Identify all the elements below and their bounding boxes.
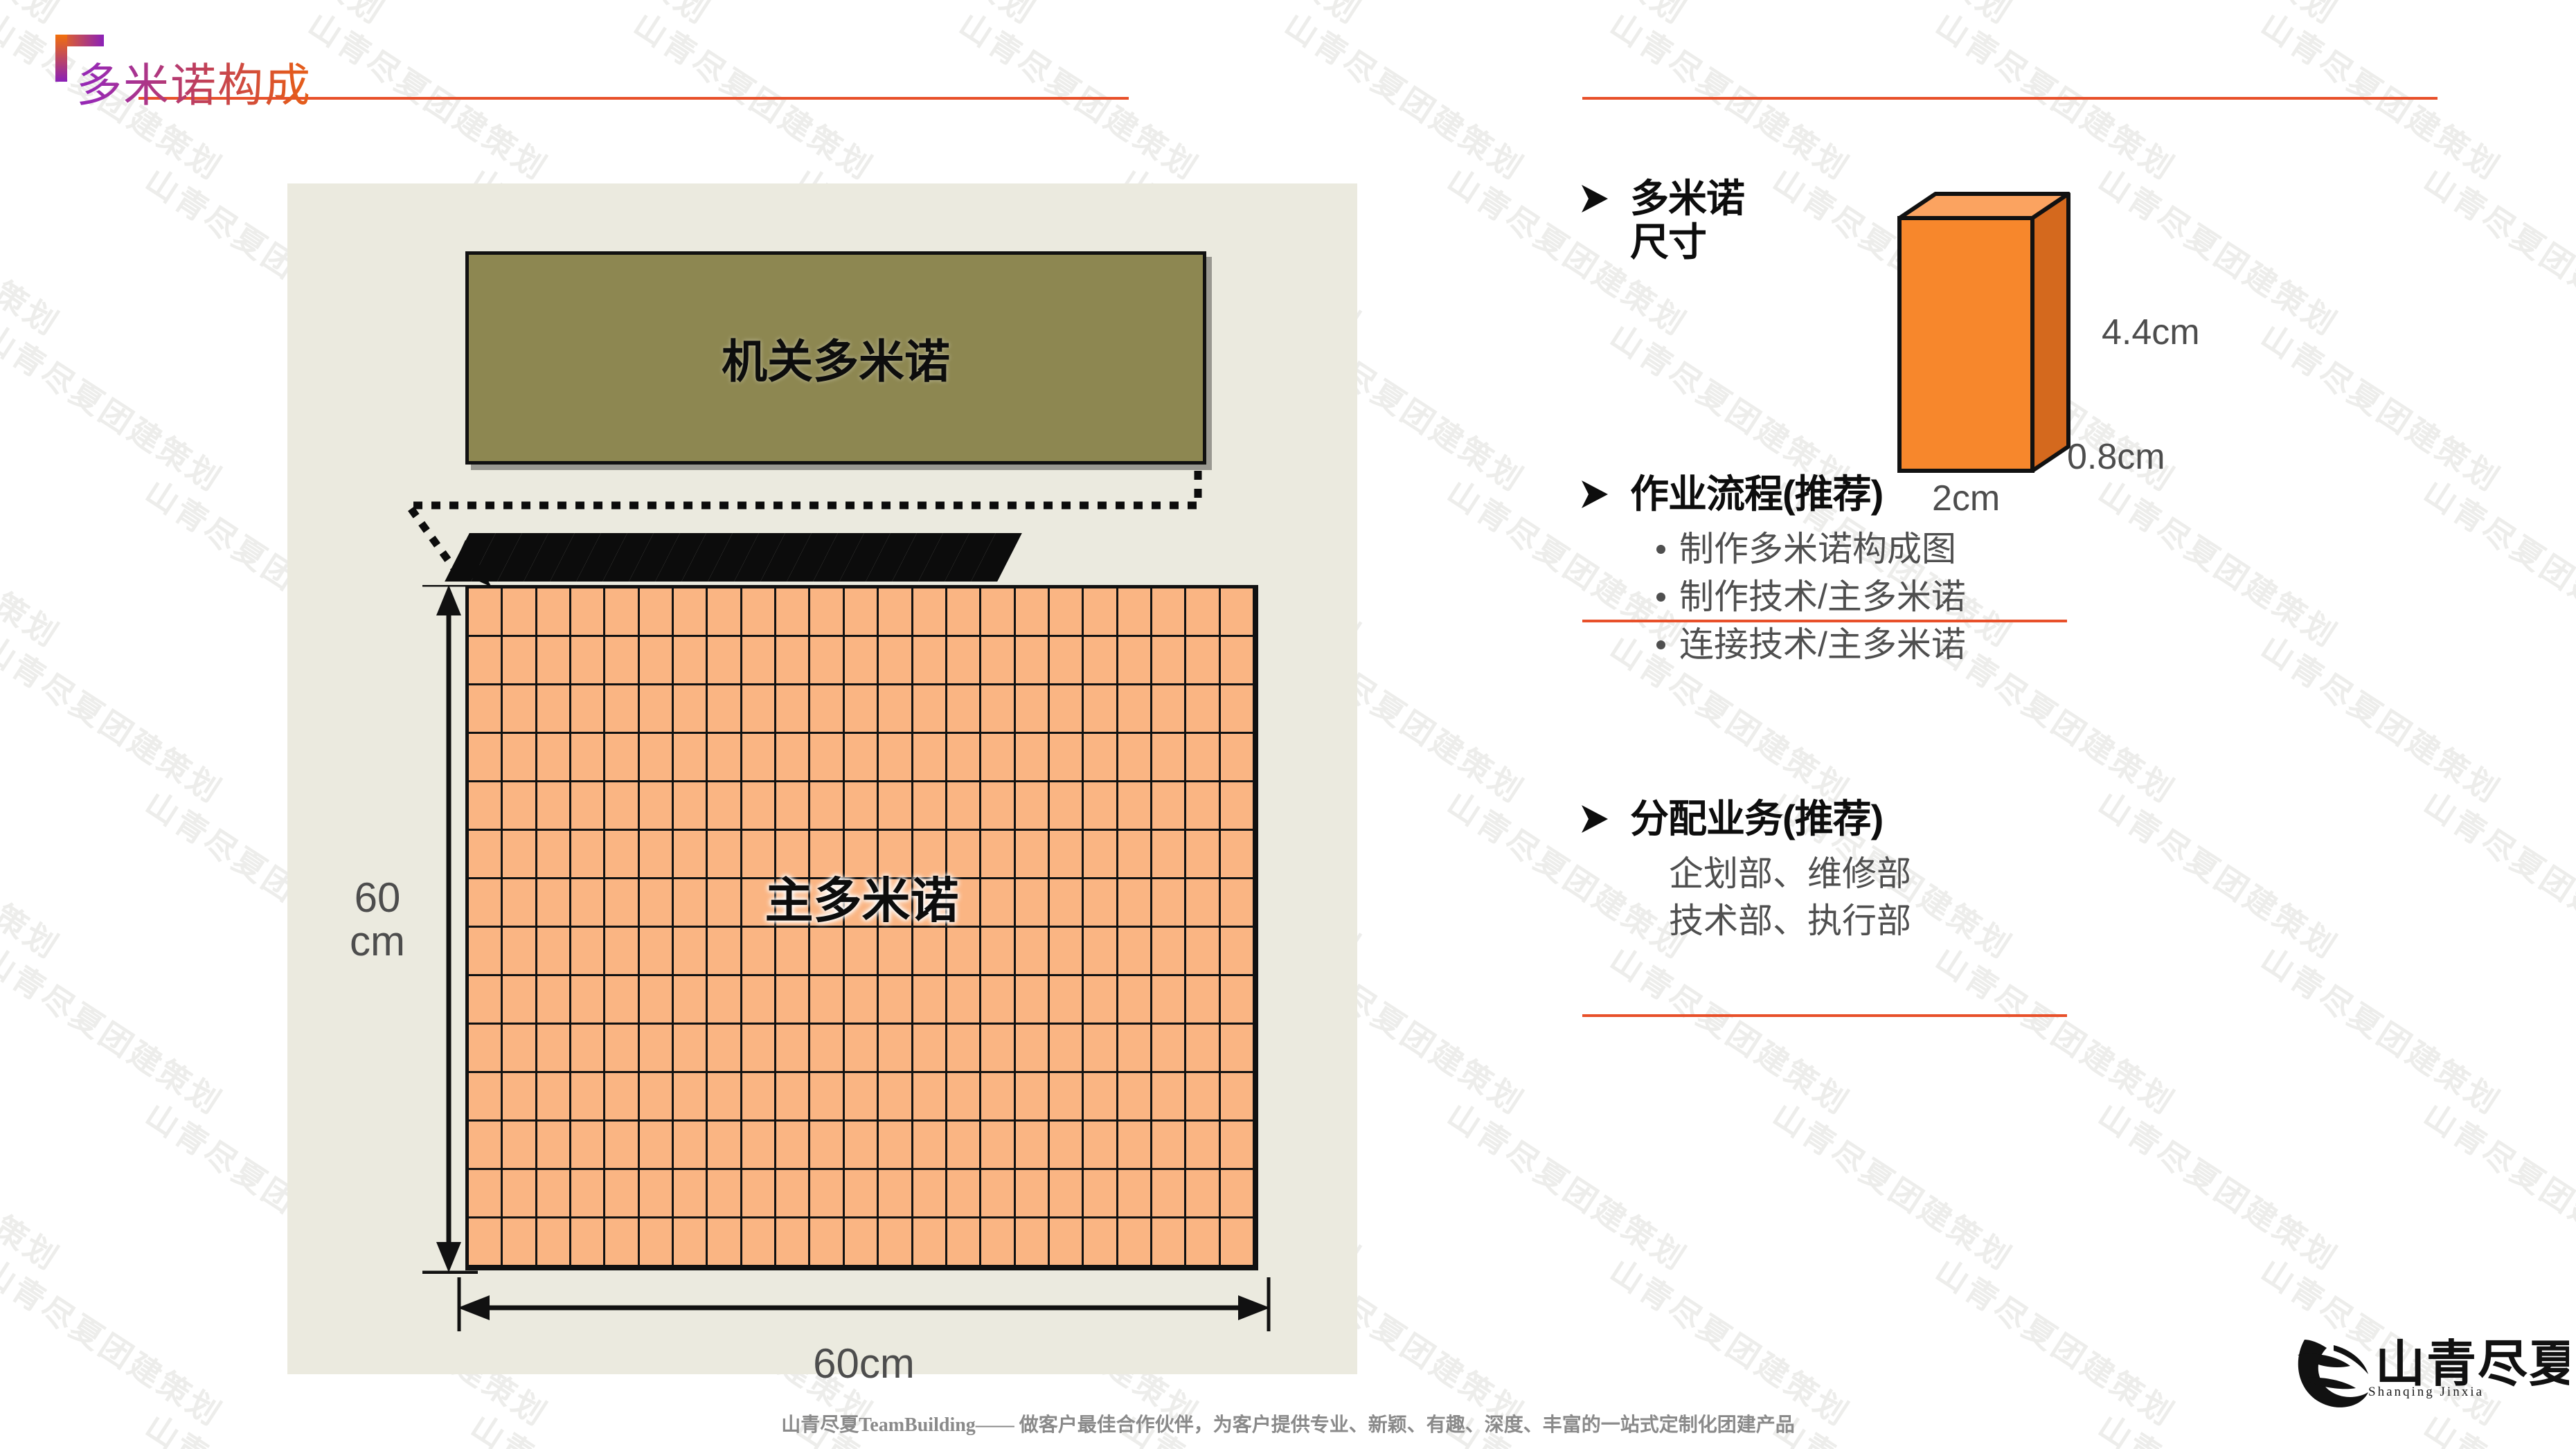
grid-cell bbox=[605, 1170, 639, 1218]
grid-cell bbox=[879, 734, 913, 782]
grid-cell bbox=[571, 637, 605, 685]
grid-cell bbox=[605, 1122, 639, 1170]
grid-cell bbox=[810, 1218, 844, 1267]
falling-domino-ticks bbox=[457, 533, 1032, 582]
grid-cell bbox=[1084, 928, 1118, 976]
grid-cell bbox=[674, 976, 708, 1025]
grid-cell bbox=[810, 1170, 844, 1218]
grid-cell bbox=[605, 782, 639, 831]
grid-cell bbox=[571, 588, 605, 637]
watermark-text: 山青尽夏团建策划 bbox=[0, 156, 69, 345]
grid-cell bbox=[845, 1218, 879, 1267]
grid-cell bbox=[1050, 976, 1084, 1025]
grid-cell bbox=[810, 1073, 844, 1122]
grid-cell bbox=[776, 734, 810, 782]
grid-cell bbox=[503, 685, 537, 734]
grid-cell bbox=[913, 1218, 947, 1267]
section-workflow-title: 作业流程(推荐) bbox=[1630, 472, 1883, 516]
grid-cell bbox=[776, 782, 810, 831]
grid-cell bbox=[1152, 1122, 1186, 1170]
logo-subtext: Shanqing Jinxia bbox=[2368, 1385, 2484, 1400]
grid-cell bbox=[571, 685, 605, 734]
grid-cell bbox=[1152, 1170, 1186, 1218]
grid-cell bbox=[708, 976, 742, 1025]
grid-cell bbox=[845, 1170, 879, 1218]
grid-cell bbox=[605, 734, 639, 782]
list-item-label: 连接技术/主多米诺 bbox=[1679, 621, 1966, 669]
watermark-text: 山青尽夏团建策划 bbox=[1277, 0, 1534, 189]
grid-cell bbox=[845, 928, 879, 976]
bullet-dot-icon bbox=[1656, 545, 1665, 554]
assignment-list: 企划部、维修部 技术部、执行部 bbox=[1579, 850, 2451, 944]
grid-cell bbox=[605, 928, 639, 976]
grid-cell bbox=[845, 976, 879, 1025]
grid-cell bbox=[947, 1025, 981, 1073]
grid-cell bbox=[879, 1218, 913, 1267]
watermark-text: 山青尽夏团建策划 bbox=[2091, 0, 2347, 33]
grid-cell bbox=[1118, 1170, 1152, 1218]
grid-cell bbox=[537, 928, 571, 976]
list-item: 制作多米诺构成图 bbox=[1656, 525, 2451, 573]
grid-cell bbox=[1186, 588, 1220, 637]
workflow-list: 制作多米诺构成图 制作技术/主多米诺 连接技术/主多米诺 bbox=[1656, 525, 2451, 669]
grid-cell bbox=[947, 1122, 981, 1170]
grid-cell bbox=[742, 976, 776, 1025]
grid-cell bbox=[1152, 928, 1186, 976]
grid-cell bbox=[947, 976, 981, 1025]
grid-cell bbox=[708, 588, 742, 637]
grid-cell bbox=[1050, 1218, 1084, 1267]
grid-cell bbox=[537, 1073, 571, 1122]
grid-cell bbox=[913, 734, 947, 782]
grid-cell bbox=[1152, 734, 1186, 782]
grid-cell bbox=[503, 734, 537, 782]
watermark-text: 山青尽夏团建策划 bbox=[1440, 1090, 1697, 1279]
domino-3d-box bbox=[1894, 187, 2074, 498]
grid-cell bbox=[674, 685, 708, 734]
grid-cell bbox=[742, 637, 776, 685]
grid-cell bbox=[605, 1073, 639, 1122]
watermark-text: 山青尽夏团建策划 bbox=[0, 623, 232, 812]
grid-cell bbox=[708, 637, 742, 685]
grid-cell bbox=[674, 1170, 708, 1218]
grid-cell bbox=[845, 685, 879, 734]
grid-cell bbox=[537, 976, 571, 1025]
grid-cell bbox=[503, 782, 537, 831]
section-assignment: 分配业务(推荐) 企划部、维修部 技术部、执行部 bbox=[1579, 797, 2451, 944]
grid-cell bbox=[810, 1025, 844, 1073]
grid-cell bbox=[810, 976, 844, 1025]
grid-cell bbox=[742, 928, 776, 976]
gate-domino-box: 机关多米诺 bbox=[465, 251, 1206, 465]
watermark-text: 山青尽夏团建策划 bbox=[2253, 935, 2510, 1124]
grid-cell bbox=[1016, 1122, 1050, 1170]
grid-cell bbox=[674, 1218, 708, 1267]
watermark-text: 山青尽夏团建策划 bbox=[1602, 935, 1859, 1124]
grid-cell bbox=[776, 588, 810, 637]
grid-cell bbox=[571, 1122, 605, 1170]
grid-cell bbox=[810, 734, 844, 782]
grid-cell bbox=[708, 685, 742, 734]
watermark-text: 山青尽夏团建策划 bbox=[0, 0, 69, 33]
grid-cell bbox=[1221, 782, 1255, 831]
grid-cell bbox=[1152, 1025, 1186, 1073]
grid-cell bbox=[1186, 685, 1220, 734]
grid-cell bbox=[1050, 1025, 1084, 1073]
grid-cell bbox=[1118, 734, 1152, 782]
grid-cell bbox=[571, 782, 605, 831]
section-title-line1: 多米诺 bbox=[1630, 177, 1744, 220]
grid-cell bbox=[674, 1025, 708, 1073]
grid-cell bbox=[1118, 1218, 1152, 1267]
grid-cell bbox=[1118, 1122, 1152, 1170]
grid-cell bbox=[1152, 637, 1186, 685]
grid-cell bbox=[503, 637, 537, 685]
grid-cell bbox=[742, 685, 776, 734]
grid-cell bbox=[1118, 588, 1152, 637]
grid-cell bbox=[537, 782, 571, 831]
watermark-text: 山青尽夏团建策划 bbox=[626, 0, 883, 189]
grid-cell bbox=[1221, 637, 1255, 685]
grid-cell bbox=[1084, 1073, 1118, 1122]
grid-cell bbox=[1221, 734, 1255, 782]
dimension-height-label: 4.4cm bbox=[2102, 312, 2200, 353]
grid-cell bbox=[503, 1025, 537, 1073]
watermark-text: 山青尽夏团建策划 bbox=[138, 0, 395, 33]
vertical-dimension-arrow bbox=[415, 585, 478, 1274]
grid-cell bbox=[947, 685, 981, 734]
grid-cell bbox=[879, 637, 913, 685]
grid-cell bbox=[776, 1218, 810, 1267]
grid-cell bbox=[742, 1025, 776, 1073]
grid-cell bbox=[674, 734, 708, 782]
grid-cell bbox=[1186, 928, 1220, 976]
grid-cell bbox=[742, 734, 776, 782]
grid-cell bbox=[913, 1122, 947, 1170]
grid-cell bbox=[571, 976, 605, 1025]
grid-cell bbox=[1016, 1073, 1050, 1122]
grid-cell bbox=[879, 1170, 913, 1218]
grid-cell bbox=[537, 734, 571, 782]
section-domino-size-title: 多米诺 尺寸 bbox=[1630, 177, 1744, 264]
grid-cell bbox=[947, 1073, 981, 1122]
grid-cell bbox=[640, 588, 674, 637]
section-assignment-title: 分配业务(推荐) bbox=[1630, 797, 1883, 840]
grid-cell bbox=[1016, 734, 1050, 782]
grid-cell bbox=[1221, 1073, 1255, 1122]
grid-cell bbox=[1016, 1218, 1050, 1267]
grid-cell bbox=[913, 976, 947, 1025]
grid-cell bbox=[537, 1170, 571, 1218]
grid-cell bbox=[605, 685, 639, 734]
grid-cell bbox=[605, 637, 639, 685]
grid-cell bbox=[742, 1170, 776, 1218]
logo-text: 山青尽夏 bbox=[2375, 1337, 2569, 1392]
watermark-text: 山青尽夏团建策划 bbox=[1765, 1090, 2022, 1279]
grid-cell bbox=[879, 928, 913, 976]
grid-cell bbox=[537, 1218, 571, 1267]
grid-cell bbox=[1221, 1170, 1255, 1218]
grid-cell bbox=[571, 1073, 605, 1122]
grid-cell bbox=[981, 782, 1015, 831]
grid-cell bbox=[640, 734, 674, 782]
grid-cell bbox=[810, 928, 844, 976]
grid-cell bbox=[1084, 734, 1118, 782]
grid-cell bbox=[845, 734, 879, 782]
watermark-text: 山青尽夏团建策划 bbox=[0, 935, 232, 1124]
arrow-bullet-icon bbox=[1579, 478, 1609, 511]
watermark-text: 山青尽夏团建策划 bbox=[1928, 0, 2185, 189]
grid-cell bbox=[1050, 1073, 1084, 1122]
grid-cell bbox=[776, 1170, 810, 1218]
grid-cell bbox=[1118, 1073, 1152, 1122]
watermark-text: 山青尽夏团建策划 bbox=[951, 0, 1208, 189]
grid-cell bbox=[708, 1073, 742, 1122]
grid-cell bbox=[947, 637, 981, 685]
grid-cell bbox=[913, 685, 947, 734]
grid-cell bbox=[1118, 782, 1152, 831]
grid-cell bbox=[1186, 637, 1220, 685]
grid-cell bbox=[1084, 1170, 1118, 1218]
grid-cell bbox=[674, 1073, 708, 1122]
grid-cell bbox=[879, 588, 913, 637]
grid-cell bbox=[708, 1218, 742, 1267]
section-title-line2: 尺寸 bbox=[1630, 220, 1744, 264]
grid-cell bbox=[879, 1122, 913, 1170]
grid-cell bbox=[537, 588, 571, 637]
grid-cell bbox=[1118, 685, 1152, 734]
grid-cell bbox=[708, 734, 742, 782]
grid-cell bbox=[571, 1218, 605, 1267]
grid-cell bbox=[981, 1122, 1015, 1170]
grid-cell bbox=[640, 1122, 674, 1170]
grid-cell bbox=[981, 976, 1015, 1025]
grid-cell bbox=[503, 1218, 537, 1267]
grid-cell bbox=[981, 1073, 1015, 1122]
grid-cell bbox=[1084, 1025, 1118, 1073]
grid-cell bbox=[1084, 685, 1118, 734]
grid-cell bbox=[1221, 976, 1255, 1025]
grid-cell bbox=[1016, 685, 1050, 734]
grid-cell bbox=[1152, 1073, 1186, 1122]
grid-cell bbox=[1016, 1170, 1050, 1218]
bullet-dot-icon bbox=[1656, 593, 1665, 602]
watermark-text: 山青尽夏团建策划 bbox=[1928, 935, 2185, 1124]
grid-cell bbox=[1050, 782, 1084, 831]
grid-cell bbox=[503, 1122, 537, 1170]
grid-cell bbox=[1186, 976, 1220, 1025]
grid-cell bbox=[708, 782, 742, 831]
grid-cell bbox=[503, 1170, 537, 1218]
grid-cell bbox=[640, 928, 674, 976]
grid-cell bbox=[503, 1073, 537, 1122]
grid-cell bbox=[1050, 588, 1084, 637]
grid-cell bbox=[1221, 1218, 1255, 1267]
horizontal-dimension-label: 60cm bbox=[454, 1340, 1274, 1387]
watermark-text: 山青尽夏团建策划 bbox=[0, 1090, 69, 1279]
dimension-depth-label: 0.8cm bbox=[2067, 436, 2165, 478]
grid-cell bbox=[605, 976, 639, 1025]
grid-cell bbox=[1084, 637, 1118, 685]
grid-cell bbox=[742, 782, 776, 831]
grid-cell bbox=[810, 588, 844, 637]
grid-cell bbox=[674, 588, 708, 637]
grid-cell bbox=[640, 1218, 674, 1267]
grid-cell bbox=[1186, 1218, 1220, 1267]
grid-cell bbox=[1152, 685, 1186, 734]
grid-cell bbox=[845, 1025, 879, 1073]
grid-cell bbox=[708, 1025, 742, 1073]
watermark-text: 山青尽夏团建策划 bbox=[1928, 1246, 2185, 1435]
section-assignment-header: 分配业务(推荐) bbox=[1579, 797, 2451, 840]
grid-cell bbox=[605, 588, 639, 637]
grid-cell bbox=[571, 734, 605, 782]
grid-cell bbox=[537, 1025, 571, 1073]
watermark-text: 山青尽夏团建策划 bbox=[0, 779, 69, 968]
arrow-bullet-icon bbox=[1579, 802, 1609, 836]
grid-cell bbox=[1016, 782, 1050, 831]
section-divider-lower bbox=[1582, 1014, 2067, 1017]
list-item-label: 技术部、执行部 bbox=[1669, 897, 2451, 944]
grid-cell bbox=[1221, 588, 1255, 637]
watermark-text: 山青尽夏团建策划 bbox=[2253, 0, 2510, 189]
grid-cell bbox=[776, 928, 810, 976]
grid-cell bbox=[1118, 1025, 1152, 1073]
list-item-label: 制作多米诺构成图 bbox=[1679, 525, 1956, 573]
grid-cell bbox=[708, 1170, 742, 1218]
grid-cell bbox=[1152, 1218, 1186, 1267]
grid-cell bbox=[981, 637, 1015, 685]
grid-cell bbox=[674, 782, 708, 831]
grid-cell bbox=[674, 928, 708, 976]
grid-cell bbox=[947, 1218, 981, 1267]
grid-cell bbox=[1221, 685, 1255, 734]
grid-cell bbox=[981, 1218, 1015, 1267]
grid-cell bbox=[1016, 588, 1050, 637]
grid-cell bbox=[1186, 1122, 1220, 1170]
grid-cell bbox=[947, 928, 981, 976]
grid-cell bbox=[640, 637, 674, 685]
grid-cell bbox=[503, 976, 537, 1025]
grid-cell bbox=[776, 685, 810, 734]
grid-cell bbox=[810, 637, 844, 685]
grid-cell bbox=[1221, 1122, 1255, 1170]
watermark-text: 山青尽夏团建策划 bbox=[1602, 1246, 1859, 1435]
grid-cell bbox=[879, 976, 913, 1025]
watermark-text: 山青尽夏团建策划 bbox=[1602, 0, 1859, 189]
grid-cell bbox=[776, 637, 810, 685]
dim-height-value: 60 bbox=[332, 876, 422, 919]
grid-cell bbox=[810, 782, 844, 831]
grid-cell bbox=[913, 637, 947, 685]
grid-cell bbox=[1084, 976, 1118, 1025]
grid-cell bbox=[1221, 1025, 1255, 1073]
grid-cell bbox=[674, 637, 708, 685]
grid-cell bbox=[947, 734, 981, 782]
grid-cell bbox=[742, 588, 776, 637]
grid-cell bbox=[571, 1170, 605, 1218]
grid-cell bbox=[879, 1073, 913, 1122]
grid-cell bbox=[1050, 734, 1084, 782]
grid-cell bbox=[947, 588, 981, 637]
grid-cell bbox=[1084, 1122, 1118, 1170]
grid-cell bbox=[1186, 782, 1220, 831]
grid-cell bbox=[1186, 1170, 1220, 1218]
grid-cell bbox=[1186, 1073, 1220, 1122]
header-rule-right bbox=[1582, 97, 2438, 100]
grid-cell bbox=[640, 782, 674, 831]
arrow-bullet-icon bbox=[1579, 182, 1609, 215]
grid-cell bbox=[1016, 637, 1050, 685]
grid-cell bbox=[1016, 976, 1050, 1025]
grid-cell bbox=[776, 1122, 810, 1170]
dimension-width-label: 2cm bbox=[1932, 478, 2000, 519]
grid-cell bbox=[845, 782, 879, 831]
bullet-dot-icon bbox=[1656, 640, 1665, 649]
grid-cell bbox=[845, 588, 879, 637]
grid-cell bbox=[1221, 928, 1255, 976]
grid-cell bbox=[776, 1073, 810, 1122]
grid-cell bbox=[947, 1170, 981, 1218]
grid-cell bbox=[1186, 1025, 1220, 1073]
watermark-text: 山青尽夏团建策划 bbox=[2416, 0, 2576, 33]
grid-cell bbox=[640, 1025, 674, 1073]
list-item-label: 企划部、维修部 bbox=[1669, 850, 2451, 897]
grid-cell bbox=[981, 1025, 1015, 1073]
grid-cell bbox=[1118, 976, 1152, 1025]
grid-cell bbox=[1118, 928, 1152, 976]
grid-cell bbox=[640, 1170, 674, 1218]
grid-cell bbox=[981, 734, 1015, 782]
grid-cell bbox=[947, 782, 981, 831]
grid-cell bbox=[879, 685, 913, 734]
grid-cell bbox=[571, 1025, 605, 1073]
watermark-text: 山青尽夏团建策划 bbox=[1440, 0, 1697, 33]
watermark-text: 山青尽夏团建策划 bbox=[0, 467, 69, 656]
grid-cell bbox=[640, 1073, 674, 1122]
watermark-text: 山青尽夏团建策划 bbox=[2091, 1090, 2347, 1279]
grid-cell bbox=[1152, 782, 1186, 831]
grid-cell bbox=[640, 685, 674, 734]
grid-cell bbox=[913, 1025, 947, 1073]
page-title: 多米诺构成 bbox=[0, 48, 388, 115]
footer-tagline: 山青尽夏TeamBuilding—— 做客户最佳合作伙伴，为客户提供专业、新颖、… bbox=[0, 1410, 2576, 1437]
grid-cell bbox=[1084, 782, 1118, 831]
grid-cell bbox=[913, 1170, 947, 1218]
watermark-text: 山青尽夏团建策划 bbox=[463, 0, 720, 33]
grid-cell bbox=[913, 1073, 947, 1122]
watermark-text: 山青尽夏团建策划 bbox=[0, 1246, 232, 1435]
grid-cell bbox=[1050, 1170, 1084, 1218]
grid-cell bbox=[605, 1025, 639, 1073]
grid-cell bbox=[845, 1073, 879, 1122]
grid-cell bbox=[1152, 976, 1186, 1025]
grid-cell bbox=[845, 637, 879, 685]
grid-cell bbox=[708, 1122, 742, 1170]
grid-cell bbox=[1186, 734, 1220, 782]
grid-cell bbox=[742, 1218, 776, 1267]
grid-cell bbox=[1118, 637, 1152, 685]
grid-cell bbox=[1084, 1218, 1118, 1267]
grid-cell bbox=[879, 782, 913, 831]
grid-cell bbox=[981, 1170, 1015, 1218]
grid-cell bbox=[537, 1122, 571, 1170]
grid-cell bbox=[1050, 1122, 1084, 1170]
grid-cell bbox=[810, 1122, 844, 1170]
horizontal-dimension-arrow bbox=[454, 1277, 1274, 1333]
grid-cell bbox=[981, 588, 1015, 637]
watermark-text: 山青尽夏团建策划 bbox=[0, 312, 232, 501]
